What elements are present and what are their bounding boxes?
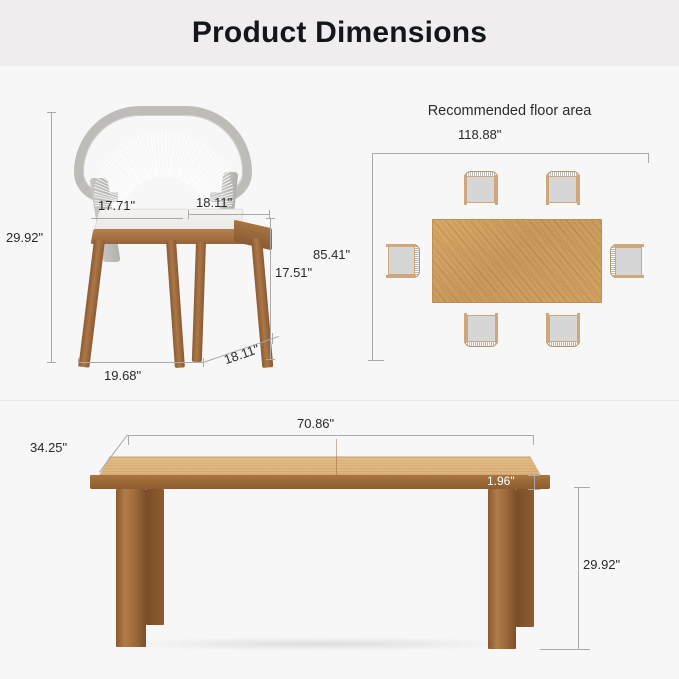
chair-height-line (51, 112, 52, 362)
table-shadow (110, 637, 530, 651)
table-thickness-label: 1.96" (487, 474, 515, 488)
floor-plan-chair-top-right (544, 171, 582, 209)
chair-diagram: 29.92" 17.71" 18.11" 17.51" 19.68" 18.11… (0, 90, 340, 400)
chair-seat-width-label: 17.71" (98, 198, 135, 213)
chair-height-tick-top (47, 112, 56, 113)
chair-seat-depth-label: 18.11" (196, 195, 232, 210)
table-height-label: 29.92" (583, 557, 620, 572)
chair-seat-icon (467, 315, 496, 342)
chair-seat-icon (388, 246, 415, 275)
table-length-tick-left (128, 435, 129, 445)
chair-seat-width-line (91, 218, 183, 219)
chair-arm-right (386, 275, 416, 278)
table-length-line (128, 435, 534, 436)
floor-width-tick-right (648, 153, 649, 163)
chair-height-tick-bottom (47, 362, 56, 363)
chair-leg-back-left (192, 242, 206, 362)
table-leg-left-front (116, 489, 146, 647)
floor-depth-label: 85.41" (313, 247, 350, 262)
product-dimensions-page: Product Dimensions (0, 0, 679, 679)
table-length-tick-right (533, 435, 534, 445)
table-thickness-tick-bottom (528, 489, 540, 490)
chair-width-label: 19.68" (104, 368, 141, 383)
chair-illustration (48, 100, 298, 390)
table-height-tick-bottom (540, 649, 590, 650)
table-thickness-line (534, 475, 535, 489)
chair-width-tick-left (78, 358, 79, 367)
floor-depth-tick-bottom (368, 360, 384, 361)
chair-seat-depth-tick-left (188, 210, 189, 219)
header-band: Product Dimensions (0, 0, 679, 66)
table-leg-right-front (488, 489, 516, 649)
chair-depth-tick (272, 333, 273, 344)
table-leg-left-back (146, 489, 164, 625)
chair-seat-depth-line (188, 214, 270, 215)
floor-plan-chair-right (610, 242, 648, 280)
floor-plan-table (432, 219, 602, 303)
floor-plan-chair-bottom-left (462, 309, 500, 347)
chair-seat-icon (615, 247, 642, 276)
table-height-tick-top (574, 487, 590, 488)
chair-seat-icon (549, 315, 578, 342)
floor-width-line (372, 153, 649, 154)
chair-leg-front-right (166, 240, 185, 368)
page-title: Product Dimensions (0, 16, 679, 50)
chair-seat-height-tick-top (266, 218, 275, 219)
table-height-line (578, 487, 579, 650)
section-divider (0, 400, 679, 401)
table-length-label: 70.86" (297, 416, 334, 431)
table-leg-right-back (516, 489, 534, 627)
chair-height-label: 29.92" (6, 230, 43, 245)
chair-leg-front-left (78, 239, 105, 367)
floor-depth-line (372, 153, 373, 361)
floor-plan-chair-top-left (462, 171, 500, 209)
chair-seat-height-tick-bottom (266, 359, 275, 360)
table-diagram: 70.86" 34.25" 1.96" 29.92" (0, 405, 679, 679)
chair-arm-right (577, 175, 580, 205)
table-depth-label: 34.25" (30, 440, 67, 455)
chair-width-line (78, 362, 204, 363)
chair-seat-height-label: 17.51" (275, 265, 312, 280)
chair-seat-icon (548, 176, 577, 203)
floor-plan-chair-bottom-right (544, 309, 582, 347)
chair-seat-icon (466, 176, 495, 203)
chair-arm-right (495, 175, 498, 205)
floor-plan-chair-left (382, 242, 420, 280)
table-top-edge (90, 475, 550, 489)
floor-plan-title: Recommended floor area (340, 103, 679, 119)
floor-width-label: 118.88" (458, 127, 501, 142)
floor-plan-diagram: Recommended floor area 118.88" 85.41" (340, 95, 679, 395)
